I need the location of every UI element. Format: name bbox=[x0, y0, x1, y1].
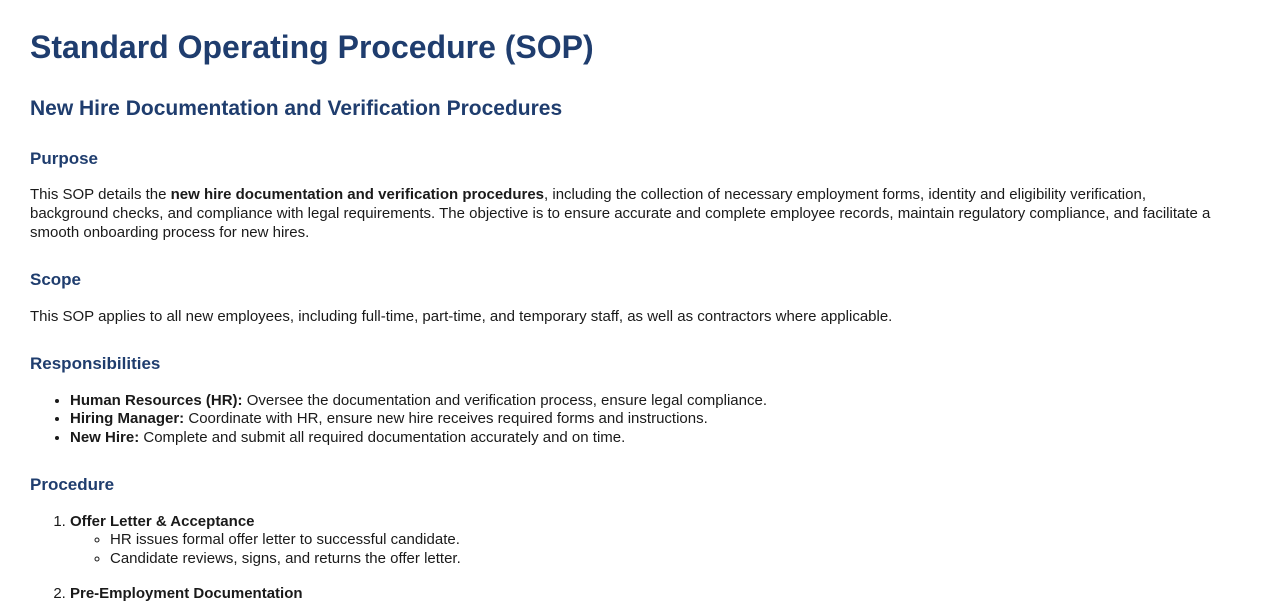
list-item: Human Resources (HR): Oversee the docume… bbox=[70, 392, 1222, 411]
page-title: Standard Operating Procedure (SOP) bbox=[30, 29, 1222, 66]
responsibility-description: Oversee the documentation and verificati… bbox=[243, 392, 767, 409]
responsibility-role: Human Resources (HR): bbox=[70, 392, 243, 409]
purpose-text-lead: This SOP details the bbox=[30, 186, 171, 203]
document-body: Standard Operating Procedure (SOP) New H… bbox=[0, 0, 1263, 604]
procedure-list: Offer Letter & Acceptance HR issues form… bbox=[30, 513, 1222, 604]
page-subtitle: New Hire Documentation and Verification … bbox=[30, 96, 1222, 121]
responsibility-role: Hiring Manager: bbox=[70, 410, 184, 427]
list-item: Offer Letter & Acceptance HR issues form… bbox=[70, 513, 1222, 569]
list-item: Hiring Manager: Coordinate with HR, ensu… bbox=[70, 410, 1222, 429]
list-item: Candidate reviews, signs, and returns th… bbox=[110, 550, 1222, 569]
list-item: HR issues formal offer letter to success… bbox=[110, 531, 1222, 550]
procedure-step-title: Offer Letter & Acceptance bbox=[70, 513, 255, 530]
responsibilities-list: Human Resources (HR): Oversee the docume… bbox=[30, 392, 1222, 448]
section-heading-responsibilities: Responsibilities bbox=[30, 354, 1222, 374]
responsibility-description: Coordinate with HR, ensure new hire rece… bbox=[184, 410, 708, 427]
section-heading-procedure: Procedure bbox=[30, 475, 1222, 495]
responsibility-role: New Hire: bbox=[70, 429, 139, 446]
scope-paragraph: This SOP applies to all new employees, i… bbox=[30, 308, 1222, 327]
list-item: Pre-Employment Documentation bbox=[70, 585, 1222, 604]
purpose-paragraph: This SOP details the new hire documentat… bbox=[30, 186, 1222, 242]
responsibility-description: Complete and submit all required documen… bbox=[139, 429, 625, 446]
list-item: New Hire: Complete and submit all requir… bbox=[70, 429, 1222, 448]
section-heading-scope: Scope bbox=[30, 270, 1222, 290]
procedure-step-title: Pre-Employment Documentation bbox=[70, 585, 303, 602]
procedure-substep-list: HR issues formal offer letter to success… bbox=[70, 531, 1222, 568]
section-heading-purpose: Purpose bbox=[30, 149, 1222, 169]
purpose-text-emphasis: new hire documentation and verification … bbox=[171, 186, 544, 203]
